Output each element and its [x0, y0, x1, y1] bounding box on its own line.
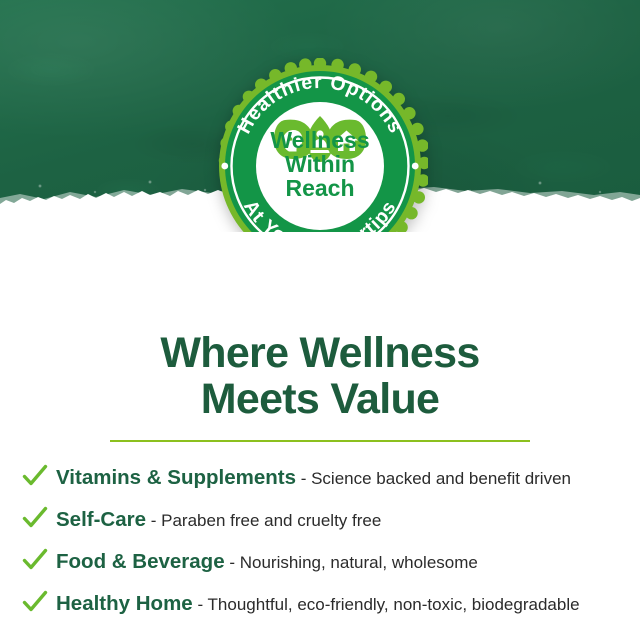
list-item-separator: -: [146, 511, 161, 530]
badge-center-line: Wellness: [270, 127, 369, 153]
check-icon: [22, 589, 48, 615]
list-item-title: Vitamins & Supplements: [56, 466, 296, 489]
wellness-badge: Healthier Options At Your Fingertips: [212, 58, 428, 232]
benefits-list: Vitamins & Supplements - Science backed …: [0, 458, 640, 626]
check-icon: [22, 505, 48, 531]
list-item-separator: -: [296, 469, 311, 488]
badge-center-line: Reach: [285, 175, 354, 201]
list-item-text: Vitamins & Supplements - Science backed …: [56, 466, 571, 490]
hero-banner: Healthier Options At Your Fingertips: [0, 0, 640, 232]
check-icon: [22, 463, 48, 489]
list-item-desc: Paraben free and cruelty free: [161, 511, 381, 530]
list-item: Healthy Home - Thoughtful, eco-friendly,…: [0, 584, 640, 626]
list-item-separator: -: [193, 595, 208, 614]
headline-line-2: Meets Value: [0, 376, 640, 422]
headline-line-1: Where Wellness: [160, 329, 479, 377]
list-item-text: Healthy Home - Thoughtful, eco-friendly,…: [56, 592, 580, 616]
headline-divider: [110, 440, 530, 442]
list-item-title: Self-Care: [56, 508, 146, 531]
list-item: Self-Care - Paraben free and cruelty fre…: [0, 500, 640, 542]
list-item-text: Food & Beverage - Nourishing, natural, w…: [56, 550, 478, 574]
badge-center-line: Within: [285, 151, 355, 177]
list-item-desc: Thoughtful, eco-friendly, non-toxic, bio…: [208, 595, 580, 614]
badge-dot-left: [221, 163, 228, 170]
page-title: Where Wellness Meets Value: [0, 330, 640, 423]
list-item-title: Food & Beverage: [56, 550, 225, 573]
list-item-desc: Science backed and benefit driven: [311, 469, 571, 488]
badge-dot-right: [412, 163, 419, 170]
check-icon: [22, 547, 48, 573]
list-item-separator: -: [225, 553, 240, 572]
list-item: Vitamins & Supplements - Science backed …: [0, 458, 640, 500]
list-item: Food & Beverage - Nourishing, natural, w…: [0, 542, 640, 584]
list-item-desc: Nourishing, natural, wholesome: [240, 553, 478, 572]
list-item-text: Self-Care - Paraben free and cruelty fre…: [56, 508, 381, 532]
list-item-title: Healthy Home: [56, 592, 193, 615]
